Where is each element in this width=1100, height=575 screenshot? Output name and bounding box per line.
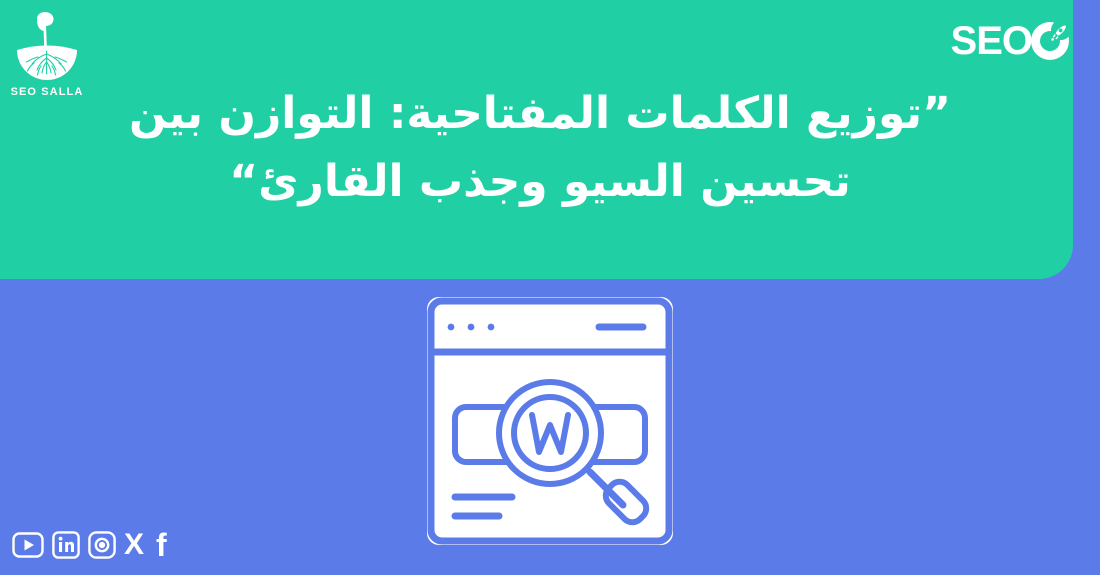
rocket-badge-icon (1028, 19, 1072, 63)
brand-logo-text: SEO SALLA (8, 86, 86, 98)
page-title: ”توزيع الكلمات المفتاحية: التوازن بين تح… (100, 80, 980, 216)
browser-keyword-search-illustration (427, 297, 673, 545)
seo-banner-image: SEO SALLA SEO ”توزيع الكلمات المفتاحية: … (0, 0, 1100, 575)
browser-dots (448, 324, 495, 331)
seo-wordmark-letters: SEO (951, 21, 1032, 61)
facebook-icon[interactable]: f (152, 529, 171, 561)
linkedin-icon[interactable] (52, 531, 80, 559)
brand-logo: SEO SALLA (8, 6, 86, 106)
sprout-roots-logo-icon (8, 6, 86, 84)
social-links-bar[interactable]: X f (12, 529, 171, 561)
x-twitter-icon[interactable]: X (124, 530, 144, 560)
illustration-svg (427, 297, 673, 545)
seo-wordmark: SEO (951, 18, 1072, 64)
instagram-icon[interactable] (88, 531, 116, 559)
youtube-icon[interactable] (12, 532, 44, 558)
